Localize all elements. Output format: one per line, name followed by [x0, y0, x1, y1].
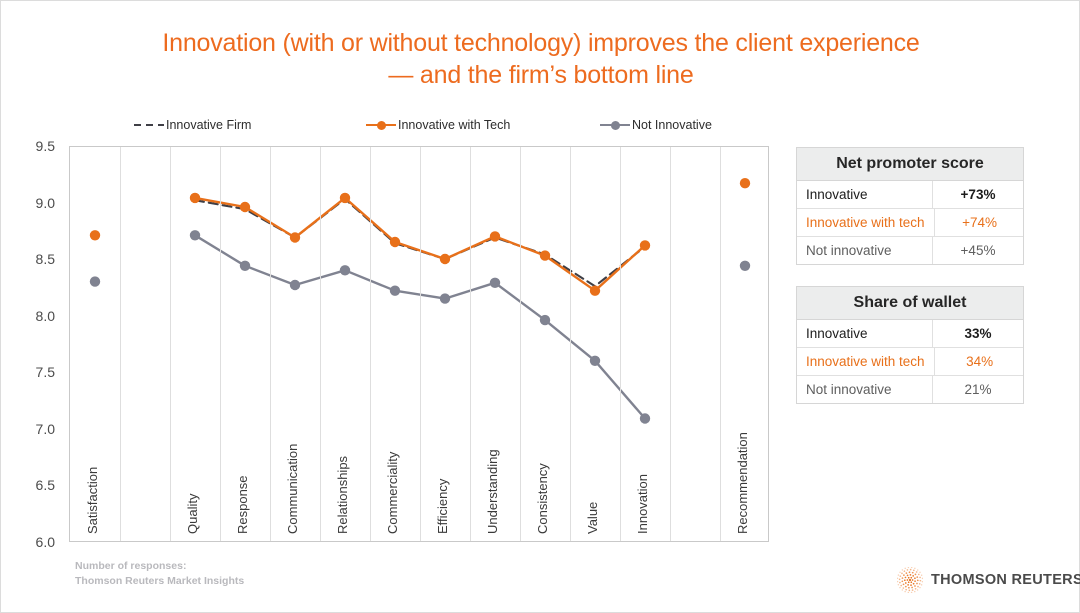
logo-dot: [906, 572, 908, 574]
logo-dot: [908, 581, 910, 583]
logo-dot: [912, 572, 914, 574]
logo-dot: [909, 571, 911, 573]
chart-legend: Innovative Firm Innovative with Tech Not…: [134, 114, 734, 136]
logo-dot: [902, 569, 903, 570]
logo-dot: [914, 580, 916, 582]
logo-dot: [910, 581, 912, 583]
logo-dot: [908, 587, 910, 589]
logo-dot: [905, 589, 907, 591]
share-of-wallet-table: Share of wallet Innovative 33% Innovativ…: [796, 286, 1024, 404]
logo-dot: [904, 579, 906, 581]
logo-dot: [908, 567, 909, 568]
logo-dot: [900, 585, 902, 587]
data-point-marker: [290, 280, 300, 290]
table-cell-label: Innovative with tech: [797, 348, 935, 375]
logo-dot: [904, 570, 906, 572]
table-cell-value: 34%: [935, 348, 1025, 375]
legend-swatch-dashed-line-icon: [134, 119, 164, 131]
logo-dot: [904, 591, 905, 592]
footnote: Number of responses: Thomson Reuters Mar…: [75, 559, 244, 589]
table-cell-label: Not innovative: [797, 237, 933, 264]
table-cell-label: Not innovative: [797, 376, 933, 403]
logo-dot: [907, 584, 909, 586]
legend-label: Innovative with Tech: [398, 118, 510, 132]
gridline-vertical: [470, 147, 471, 541]
data-point-marker: [490, 278, 500, 288]
logo-dot: [905, 586, 907, 588]
data-point-marker: [190, 230, 200, 240]
y-axis-tick-label: 8.0: [36, 308, 55, 324]
logo-dot: [907, 579, 909, 581]
legend-item-innovative-firm[interactable]: Innovative Firm: [134, 114, 251, 136]
data-point-marker: [90, 276, 100, 286]
logo-dot: [915, 588, 917, 590]
logo-dot: [920, 580, 922, 582]
y-axis-tick-label: 6.0: [36, 534, 55, 550]
logo-dot: [907, 569, 909, 571]
gridline-vertical: [270, 147, 271, 541]
table-cell-label: Innovative: [797, 320, 933, 347]
table-row: Innovative +73%: [797, 181, 1023, 209]
logo-dot: [919, 572, 920, 573]
logo-dot: [911, 592, 912, 593]
data-point-marker: [640, 240, 650, 250]
data-point-marker: [540, 250, 550, 260]
logo-dot: [914, 577, 916, 579]
logo-dot: [922, 581, 923, 582]
logo-dot: [910, 574, 912, 576]
y-axis: 9.59.08.58.07.57.06.56.0: [1, 146, 63, 542]
table-cell-value: 33%: [933, 320, 1023, 347]
logo-dot: [919, 587, 920, 588]
gridline-vertical: [620, 147, 621, 541]
logo-dot: [912, 589, 914, 591]
y-axis-tick-label: 6.5: [36, 477, 55, 493]
logo-dot: [918, 574, 920, 576]
footnote-line-1: Number of responses:: [75, 559, 244, 574]
logo-dot: [911, 587, 913, 589]
logo-dot: [897, 578, 898, 579]
logo-dot: [914, 591, 915, 592]
logo-dot: [901, 580, 903, 582]
logo-dot: [899, 587, 900, 588]
y-axis-tick-label: 8.5: [36, 251, 55, 267]
title-line-2: — and the firm’s bottom line: [61, 59, 1021, 91]
table-header: Share of wallet: [797, 287, 1023, 320]
data-point-marker: [440, 293, 450, 303]
logo-dot: [909, 579, 911, 581]
table-cell-label: Innovative: [797, 181, 933, 208]
data-point-marker: [390, 286, 400, 296]
logo-dot: [913, 570, 915, 572]
logo-dot: [917, 579, 919, 581]
logo-dot: [922, 578, 923, 579]
gridline-vertical: [570, 147, 571, 541]
legend-label: Innovative Firm: [166, 118, 251, 132]
logo-dot: [921, 584, 922, 585]
data-point-marker: [190, 193, 200, 203]
page-title: Innovation (with or without technology) …: [61, 27, 1021, 91]
logo-dot: [919, 577, 921, 579]
legend-label: Not Innovative: [632, 118, 712, 132]
logo-dot: [910, 569, 912, 571]
y-axis-tick-label: 7.0: [36, 421, 55, 437]
data-point-marker: [590, 286, 600, 296]
gridline-vertical: [120, 147, 121, 541]
table-row: Not innovative 21%: [797, 376, 1023, 403]
logo-dot: [899, 572, 900, 573]
logo-dot: [917, 589, 918, 590]
data-point-marker: [490, 231, 500, 241]
data-point-marker: [590, 356, 600, 366]
thomson-reuters-logo: THOMSON REUTERS®: [897, 567, 1080, 593]
legend-swatch-gray-line-marker-icon: [600, 119, 630, 131]
gridline-vertical: [420, 147, 421, 541]
logo-dot: [916, 576, 918, 578]
logo-dot: [913, 583, 915, 585]
table-row: Not innovative +45%: [797, 237, 1023, 264]
data-point-marker: [90, 230, 100, 240]
gridline-vertical: [320, 147, 321, 541]
logo-dot: [905, 577, 907, 579]
table-cell-value: +45%: [933, 237, 1023, 264]
logo-dot: [914, 568, 915, 569]
logo-dot: [916, 571, 918, 573]
logo-dot: [903, 583, 905, 585]
data-point-marker: [340, 265, 350, 275]
logo-dot: [901, 573, 903, 575]
table-cell-label: Innovative with tech: [797, 209, 935, 236]
logo-dot: [911, 567, 912, 568]
y-axis-tick-label: 7.5: [36, 364, 55, 380]
gridline-vertical: [220, 147, 221, 541]
legend-item-innovative-with-tech[interactable]: Innovative with Tech: [366, 114, 510, 136]
logo-dot: [899, 582, 901, 584]
logo-dot: [910, 584, 912, 586]
line-chart-plot-area: [69, 146, 769, 542]
logo-dot: [917, 569, 918, 570]
thomson-reuters-kinesis-icon: [897, 567, 923, 593]
logo-dot: [904, 568, 905, 569]
logo-dot: [907, 575, 909, 577]
table-cell-value: 21%: [933, 376, 1023, 403]
logo-dot: [921, 574, 922, 575]
table-row: Innovative 33%: [797, 320, 1023, 348]
logo-dot: [909, 590, 911, 592]
logo-dot: [915, 574, 917, 576]
data-point-marker: [640, 413, 650, 423]
table-row: Innovative with tech 34%: [797, 348, 1023, 376]
logo-dot: [912, 579, 914, 581]
table-header: Net promoter score: [797, 148, 1023, 181]
legend-item-not-innovative[interactable]: Not Innovative: [600, 114, 712, 136]
data-point-marker: [540, 315, 550, 325]
data-point-marker: [390, 237, 400, 247]
logo-wordmark: THOMSON REUTERS®: [931, 572, 1080, 588]
legend-swatch-orange-line-marker-icon: [366, 119, 396, 131]
logo-dot: [903, 574, 905, 576]
data-point-marker: [440, 254, 450, 264]
table-row: Innovative with tech +74%: [797, 209, 1023, 237]
gridline-vertical: [720, 147, 721, 541]
logo-dot: [905, 582, 907, 584]
gridline-vertical: [520, 147, 521, 541]
footnote-line-2: Thomson Reuters Market Insights: [75, 574, 244, 589]
data-point-marker: [740, 261, 750, 271]
gridline-vertical: [370, 147, 371, 541]
logo-dot: [897, 581, 898, 582]
logo-dot: [910, 577, 912, 579]
logo-dot: [898, 584, 899, 585]
logo-dot: [914, 585, 916, 587]
data-point-marker: [340, 193, 350, 203]
logo-dot: [903, 587, 905, 589]
logo-dot: [908, 577, 910, 579]
logo-dot: [912, 575, 914, 577]
slide-canvas: Innovation (with or without technology) …: [0, 0, 1080, 613]
data-point-marker: [240, 261, 250, 271]
data-point-marker: [240, 202, 250, 212]
logo-dot: [908, 592, 909, 593]
gridline-vertical: [170, 147, 171, 541]
logo-dot: [900, 575, 902, 577]
logo-dot: [898, 574, 899, 575]
title-line-1: Innovation (with or without technology) …: [162, 29, 919, 57]
logo-dot: [902, 589, 903, 590]
table-cell-value: +74%: [935, 209, 1025, 236]
table-cell-value: +73%: [933, 181, 1023, 208]
logo-dot: [902, 577, 904, 579]
logo-dot: [899, 579, 901, 581]
data-point-marker: [740, 178, 750, 188]
net-promoter-score-table: Net promoter score Innovative +73% Innov…: [796, 147, 1024, 265]
logo-dot: [916, 583, 918, 585]
y-axis-tick-label: 9.0: [36, 195, 55, 211]
logo-dot: [917, 586, 919, 588]
data-point-marker: [290, 232, 300, 242]
y-axis-tick-label: 9.5: [36, 138, 55, 154]
logo-dot: [919, 583, 921, 585]
gridline-vertical: [670, 147, 671, 541]
